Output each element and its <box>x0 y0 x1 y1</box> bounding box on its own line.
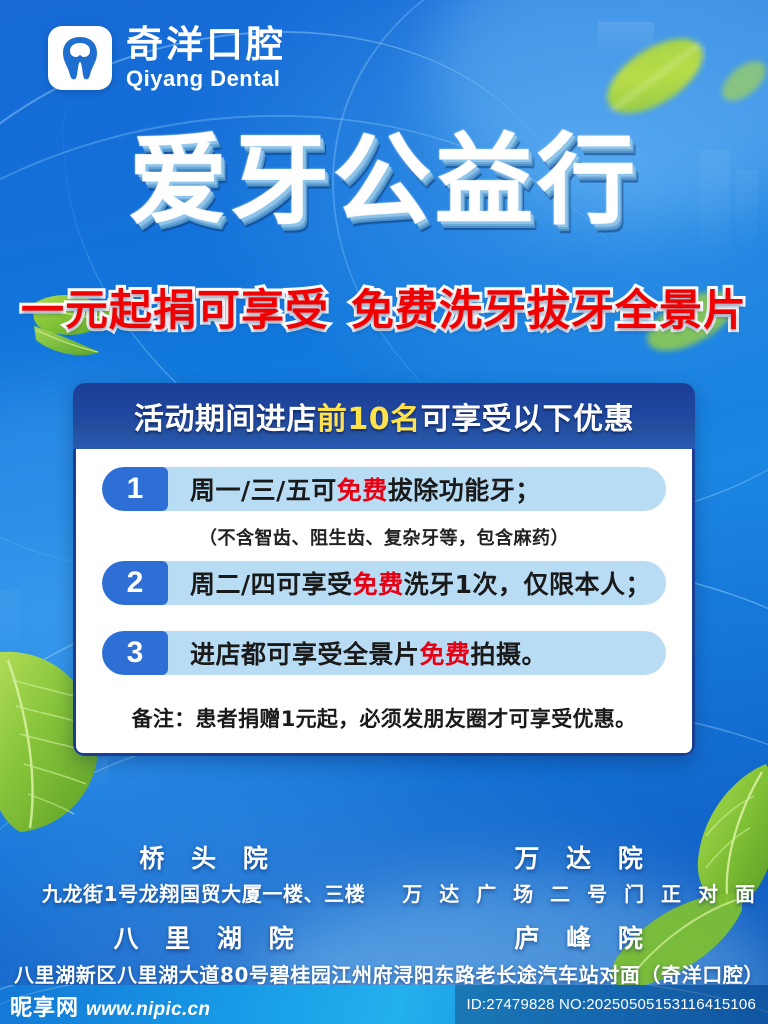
offer-remark: 备注：患者捐赠1元起，必须发朋友圈才可享受优惠。 <box>96 703 672 733</box>
offer-badge-2: 2 <box>102 561 168 605</box>
offer-badge-1: 1 <box>102 467 168 511</box>
clinic-list: 桥 头 院 九龙街1号龙翔国贸大厦一楼、三楼 万 达 院 万 达 广 场 二 号… <box>0 843 768 988</box>
clinic-item: 万 达 院 万 达 广 场 二 号 门 正 对 面 <box>393 843 764 907</box>
background-bar-1 <box>598 22 654 56</box>
page-title: 爱牙公益行 <box>0 132 768 230</box>
offer-sub-note: （不含智齿、阻生齿、复杂牙等，包含麻药） <box>96 524 672 550</box>
clinic-name: 万 达 院 <box>393 843 764 874</box>
clinic-item: 八 里 湖 院 八里湖新区八里湖大道80号碧桂园江州府 <box>14 923 393 987</box>
background-bar-2 <box>662 46 706 72</box>
brand-name-en: Qiyang Dental <box>126 68 286 90</box>
clinic-item: 桥 头 院 九龙街1号龙翔国贸大厦一楼、三楼 <box>14 843 393 907</box>
offer-row-1: 1 周一/三/五可免费拔除功能牙； <box>102 467 666 511</box>
offer-text-3-before: 进店都可享受全景片 <box>190 635 420 671</box>
offer-row-spacer <box>96 605 672 631</box>
offer-card-header-text: 活动期间进店前10名可享受以下优惠 <box>134 394 634 438</box>
offer-text-3-after: 拍摄。 <box>471 635 548 671</box>
offer-text-2-highlight: 免费 <box>353 565 404 601</box>
offer-text-3: 进店都可享受全景片免费拍摄。 <box>168 631 666 675</box>
clinic-address: 八里湖新区八里湖大道80号碧桂园江州府 <box>14 959 393 988</box>
offer-text-1-highlight: 免费 <box>337 471 388 507</box>
clinic-name: 桥 头 院 <box>14 843 393 874</box>
clinic-address: 九龙街1号龙翔国贸大厦一楼、三楼 <box>14 878 393 907</box>
poster-root: 奇洋口腔 Qiyang Dental 爱牙公益行 一元起捐可享受免费洗牙拔牙全景… <box>0 0 768 1024</box>
watermark-brand: 昵享网 www.nipic.cn <box>10 990 210 1022</box>
clinic-name: 庐 峰 院 <box>393 923 764 954</box>
subtitle-part1: 一元起捐可享受 <box>21 286 329 336</box>
header-suffix: 可享受以下优惠 <box>421 402 635 437</box>
clinic-name: 八 里 湖 院 <box>14 923 393 954</box>
offer-card-body: 1 周一/三/五可免费拔除功能牙； （不含智齿、阻生齿、复杂牙等，包含麻药） 2… <box>73 449 695 756</box>
leaf-decoration-top-corner <box>714 46 768 116</box>
offer-text-3-highlight: 免费 <box>420 635 471 671</box>
tooth-icon <box>48 26 112 90</box>
subtitle-part2: 免费洗牙拔牙全景片 <box>351 286 747 336</box>
offer-text-2: 周二/四可享受免费洗牙1次，仅限本人； <box>168 561 666 605</box>
tooth-glyph <box>60 35 100 81</box>
header-prefix: 活动期间进店 <box>134 402 317 437</box>
clinic-item: 庐 峰 院 浔阳东路老长途汽车站对面（奇洋口腔） <box>393 923 764 987</box>
background-bar-5 <box>12 758 108 788</box>
header-highlight: 前10名 <box>317 402 421 437</box>
offer-text-1-before: 周一/三/五可 <box>190 471 337 507</box>
offer-card: 活动期间进店前10名可享受以下优惠 1 周一/三/五可免费拔除功能牙； （不含智… <box>73 383 695 756</box>
offer-text-2-before: 周二/四可享受 <box>190 565 353 601</box>
offer-text-1-after: 拔除功能牙； <box>388 471 541 507</box>
clinic-address: 万 达 广 场 二 号 门 正 对 面 <box>393 878 764 907</box>
offer-row-3: 3 进店都可享受全景片免费拍摄。 <box>102 631 666 675</box>
offer-row-2: 2 周二/四可享受免费洗牙1次，仅限本人； <box>102 561 666 605</box>
clinic-address: 浔阳东路老长途汽车站对面（奇洋口腔） <box>393 959 764 988</box>
offer-text-1: 周一/三/五可免费拔除功能牙； <box>168 467 666 511</box>
subtitle: 一元起捐可享受免费洗牙拔牙全景片 <box>0 288 768 334</box>
brand-text: 奇洋口腔 Qiyang Dental <box>126 26 286 90</box>
watermark-bar: 昵享网 www.nipic.cn ID:27479828 NO:20250505… <box>0 985 768 1024</box>
brand-logo: 奇洋口腔 Qiyang Dental <box>48 26 286 90</box>
watermark-url: www.nipic.cn <box>86 999 210 1021</box>
offer-text-2-after: 洗牙1次，仅限本人； <box>404 565 651 601</box>
background-bar-6 <box>0 590 20 660</box>
offer-badge-3: 3 <box>102 631 168 675</box>
watermark-name-cn: 昵享网 <box>10 990 79 1022</box>
offer-card-header: 活动期间进店前10名可享受以下优惠 <box>73 383 695 449</box>
watermark-id: ID:27479828 NO:20250505153116415106 <box>455 985 768 1024</box>
brand-name-cn: 奇洋口腔 <box>126 26 286 63</box>
